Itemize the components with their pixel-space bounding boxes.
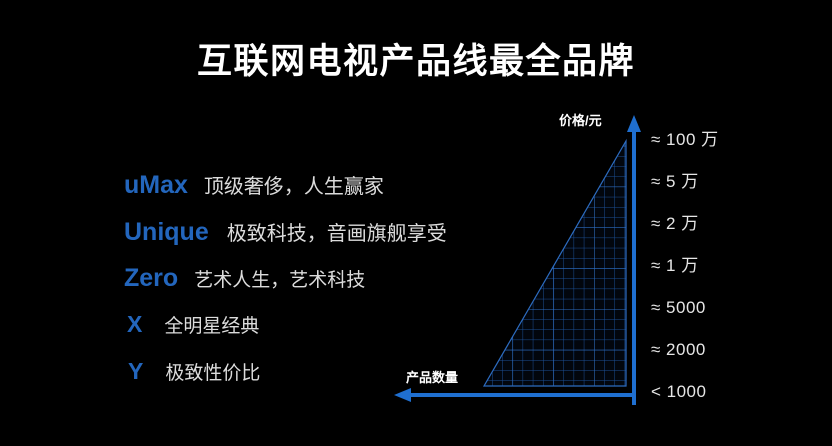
x-axis-arrow <box>394 388 636 402</box>
y-axis-label: 价格/元 <box>559 110 602 129</box>
tick-label: ≈ 1 万 <box>651 245 811 287</box>
brand-description: 极致性价比 <box>165 358 260 385</box>
brand-name: Y <box>128 358 143 385</box>
brand-name: Unique <box>124 218 209 247</box>
y-axis-arrow <box>627 115 641 405</box>
brand-name: Zero <box>124 264 178 293</box>
tick-label: < 1000 <box>651 371 811 413</box>
tick-label: ≈ 100 万 <box>651 119 811 161</box>
brand-name: uMax <box>124 171 188 200</box>
chart-svg <box>390 105 650 405</box>
x-axis-label: 产品数量 <box>406 367 458 386</box>
tick-label: ≈ 5 万 <box>651 161 811 203</box>
brand-description: 全明星经典 <box>164 311 259 338</box>
tick-label: ≈ 2 万 <box>651 203 811 245</box>
slide-canvas: 互联网电视产品线最全品牌 uMax 顶级奢侈，人生赢家 Unique 极致科技，… <box>0 0 832 446</box>
brand-name: X <box>127 311 142 338</box>
tick-label: ≈ 5000 <box>651 287 811 329</box>
price-quantity-chart <box>390 105 650 405</box>
price-tick-list: ≈ 100 万 ≈ 5 万 ≈ 2 万 ≈ 1 万 ≈ 5000 ≈ 2000 … <box>651 119 811 413</box>
brand-description: 艺术人生，艺术科技 <box>194 265 365 292</box>
brand-description: 顶级奢侈，人生赢家 <box>204 170 384 199</box>
tick-label: ≈ 2000 <box>651 329 811 371</box>
page-title: 互联网电视产品线最全品牌 <box>0 33 832 84</box>
